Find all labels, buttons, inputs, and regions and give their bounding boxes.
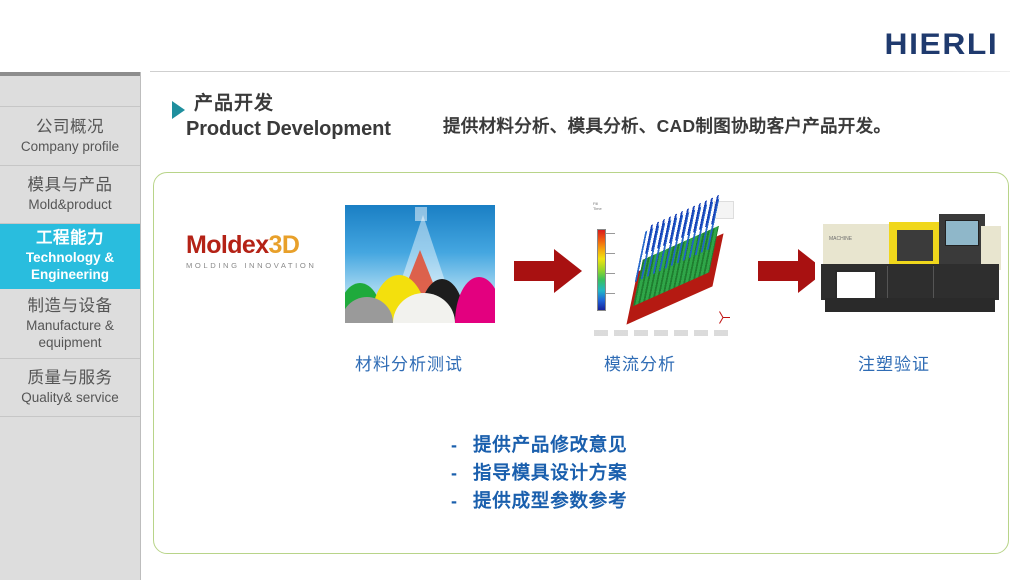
caption-material-analysis: 材料分析测试: [355, 350, 463, 375]
sidebar-item-quality-service[interactable]: 质量与服务 Quality& service: [0, 359, 140, 417]
machine-control-screen: [945, 220, 979, 246]
cae-color-scale-bar: [597, 229, 606, 311]
sidebar-item-label-cn: 模具与产品: [28, 175, 113, 196]
injection-molding-machine-photo: MACHINE: [815, 206, 1005, 321]
axis-line: [719, 317, 723, 324]
cae-scale-tick: [606, 253, 615, 254]
machine-clamp-cover: [823, 224, 893, 264]
list-item-label: 提供成型参数参考: [473, 487, 627, 515]
sidebar-item-manufacture-equipment[interactable]: 制造与设备 Manufacture & equipment: [0, 289, 140, 359]
moldflow-analysis-image: FillTime: [588, 195, 740, 340]
bullet-dash-icon: -: [451, 459, 473, 487]
sidebar-spacer-top: [0, 76, 140, 107]
page-title-en: Product Development: [186, 116, 442, 142]
cae-scale-tick: [606, 233, 615, 234]
sidebar-item-company-profile[interactable]: 公司概况 Company profile: [0, 108, 140, 166]
caption-injection-validation: 注塑验证: [858, 350, 930, 375]
sidebar-item-technology-engineering[interactable]: 工程能力 Technology & Engineering: [0, 224, 140, 289]
machine-brand-text: MACHINE: [829, 236, 852, 242]
list-item-label: 提供产品修改意见: [473, 431, 627, 459]
bullet-dash-icon: -: [451, 487, 473, 515]
list-item-label: 指导模具设计方案: [473, 459, 627, 487]
plastic-pellets-photo: [345, 205, 495, 323]
moldex3d-logo: Moldex3D MOLDING INNOVATION: [186, 231, 336, 270]
cae-scale-tick: [606, 273, 615, 274]
cae-legend-title: FillTime: [593, 201, 602, 211]
moldex3d-tagline: MOLDING INNOVATION: [186, 261, 336, 270]
cae-axis-triad-icon: [716, 310, 730, 324]
sidebar-item-label-en: Company profile: [21, 138, 119, 155]
cae-3d-model: [626, 209, 734, 321]
moldex3d-word-3d: 3D: [269, 231, 300, 259]
content-panel: Moldex3D MOLDING INNOVATION FillTime: [153, 172, 1009, 554]
machine-legs: [825, 298, 995, 312]
sidebar-item-label-en: Manufacture & equipment: [4, 317, 136, 351]
machine-panel-seam: [933, 266, 934, 298]
cae-footer-caption: [594, 330, 734, 336]
page-title: 产品开发 Product Development: [172, 92, 442, 142]
sidebar-item-label-en: Mold&product: [28, 196, 111, 213]
machine-guard-window: [897, 230, 933, 261]
sidebar-item-label-cn: 制造与设备: [28, 296, 113, 317]
pellet-pile-magenta: [455, 277, 495, 323]
caption-moldflow-analysis: 模流分析: [604, 350, 676, 375]
sidebar-item-label-cn: 工程能力: [36, 228, 104, 249]
hierli-logo: HIERLI: [884, 30, 998, 60]
moldex3d-word-moldex: Moldex: [186, 231, 269, 259]
axis-line: [723, 317, 730, 318]
list-item: - 指导模具设计方案: [451, 459, 627, 487]
sidebar-menu: 公司概况 Company profile 模具与产品 Mold&product …: [0, 108, 140, 417]
header-divider: [150, 71, 1010, 72]
page-subtitle: 提供材料分析、模具分析、CAD制图协助客户产品开发。: [443, 113, 891, 138]
triangle-bullet-icon: [172, 101, 185, 119]
list-item: - 提供产品修改意见: [451, 431, 627, 459]
sidebar-item-label-cn: 公司概况: [36, 117, 104, 138]
sidebar-item-label-en: Technology & Engineering: [4, 249, 136, 283]
moldex3d-wordmark: Moldex3D: [186, 231, 336, 259]
page-title-cn: 产品开发: [194, 92, 442, 116]
cae-scale-tick: [606, 293, 615, 294]
benefits-list: - 提供产品修改意见 - 指导模具设计方案 - 提供成型参数参考: [451, 431, 627, 515]
sidebar-item-label-en: Quality& service: [21, 389, 119, 406]
sidebar-navigation: 公司概况 Company profile 模具与产品 Mold&product …: [0, 72, 141, 580]
arrow-shaft: [758, 261, 802, 281]
flask-neck-shape: [415, 207, 427, 221]
arrow-shaft: [514, 261, 558, 281]
sidebar-spacer-bottom: [0, 493, 140, 580]
list-item: - 提供成型参数参考: [451, 487, 627, 515]
flow-arrow-1: [514, 249, 582, 293]
bullet-dash-icon: -: [451, 431, 473, 459]
arrow-head: [554, 249, 582, 293]
sidebar-item-label-cn: 质量与服务: [28, 368, 113, 389]
sidebar-item-mold-product[interactable]: 模具与产品 Mold&product: [0, 166, 140, 224]
machine-panel-seam: [887, 266, 888, 298]
page-header: HIERLI: [0, 0, 1024, 72]
